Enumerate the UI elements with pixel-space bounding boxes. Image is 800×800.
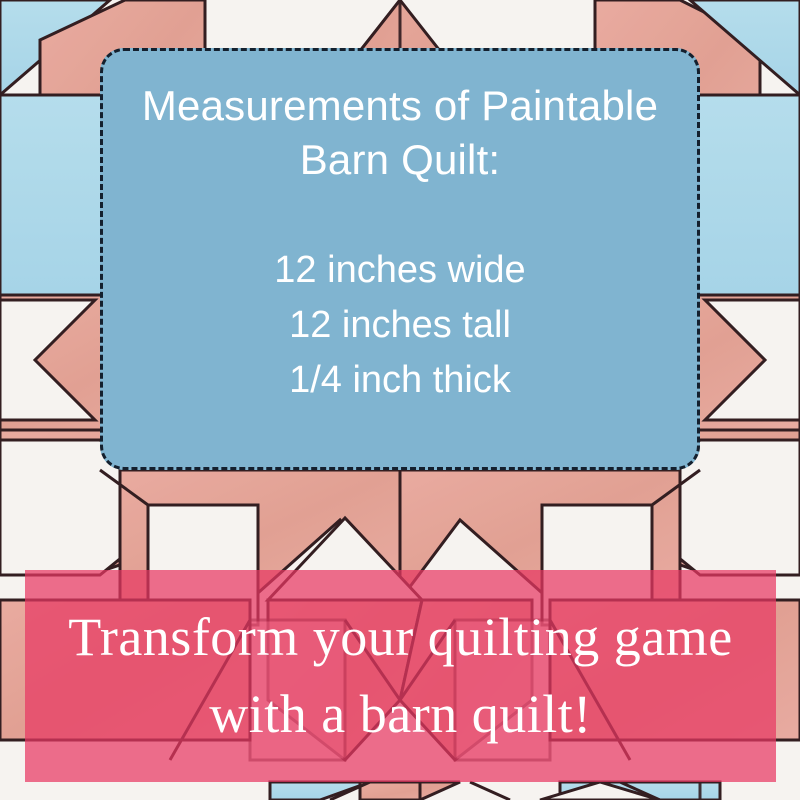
image-canvas: Measurements of Paintable Barn Quilt: 12… xyxy=(0,0,800,800)
measurement-height: 12 inches tall xyxy=(274,298,525,353)
measurement-width: 12 inches wide xyxy=(274,243,525,298)
tagline-text: Transform your quilting game with a barn… xyxy=(68,599,732,752)
measurements-card: Measurements of Paintable Barn Quilt: 12… xyxy=(100,48,700,470)
measurements-title: Measurements of Paintable Barn Quilt: xyxy=(120,79,680,187)
measurement-thickness: 1/4 inch thick xyxy=(274,353,525,408)
tagline-banner: Transform your quilting game with a barn… xyxy=(25,570,776,782)
measurements-list: 12 inches wide 12 inches tall 1/4 inch t… xyxy=(274,243,525,408)
